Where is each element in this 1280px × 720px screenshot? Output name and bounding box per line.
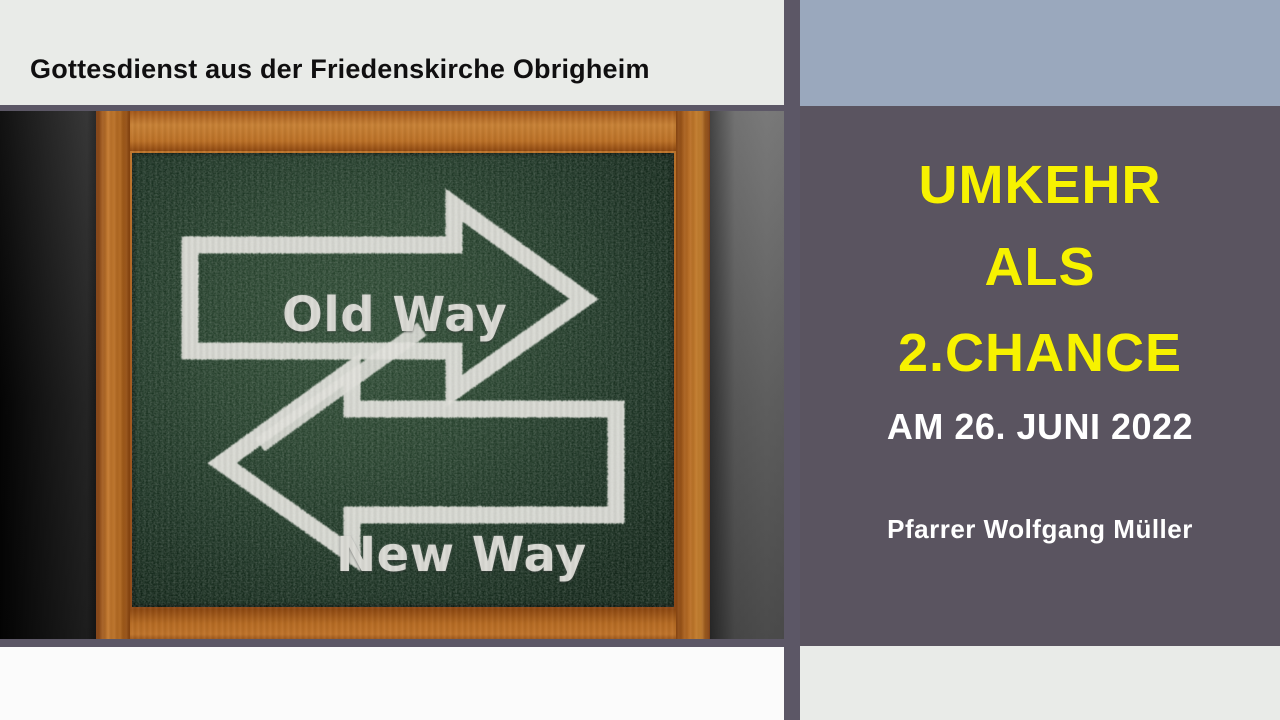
speaker-name: Pfarrer Wolfgang Müller bbox=[800, 514, 1280, 545]
headline-line-1: UMKEHR bbox=[800, 154, 1280, 216]
headline-line-3: 2.CHANCE bbox=[800, 322, 1280, 384]
chalkboard-wooden-frame: Old Way New Way bbox=[96, 111, 710, 645]
bottom-vertical-divider bbox=[784, 646, 800, 720]
header-accent-block bbox=[800, 0, 1280, 106]
sermon-info-panel: UMKEHR ALS 2.CHANCE AM 26. JUNI 2022 Pfa… bbox=[800, 106, 1280, 646]
bottom-strip-left bbox=[0, 647, 784, 720]
slide-root: Gottesdienst aus der Friedenskirche Obri… bbox=[0, 0, 1280, 720]
chalkboard-surface: Old Way New Way bbox=[132, 153, 674, 607]
service-date: AM 26. JUNI 2022 bbox=[800, 406, 1280, 448]
bottom-divider-rule bbox=[0, 639, 784, 647]
chalk-label-old-way: Old Way bbox=[282, 287, 507, 343]
header-bar-left: Gottesdienst aus der Friedenskirche Obri… bbox=[0, 0, 784, 105]
frame-left-rail bbox=[96, 111, 130, 645]
headline-line-2: ALS bbox=[800, 236, 1280, 298]
frame-right-rail bbox=[676, 111, 710, 645]
bottom-strip-right bbox=[800, 646, 1280, 720]
frame-top-rail bbox=[96, 111, 710, 151]
page-title: Gottesdienst aus der Friedenskirche Obri… bbox=[30, 54, 650, 85]
chalkboard-image-panel: Old Way New Way bbox=[0, 111, 790, 645]
header-vertical-divider bbox=[784, 0, 800, 106]
side-vertical-divider bbox=[784, 106, 800, 646]
chalk-label-new-way: New Way bbox=[336, 527, 587, 583]
